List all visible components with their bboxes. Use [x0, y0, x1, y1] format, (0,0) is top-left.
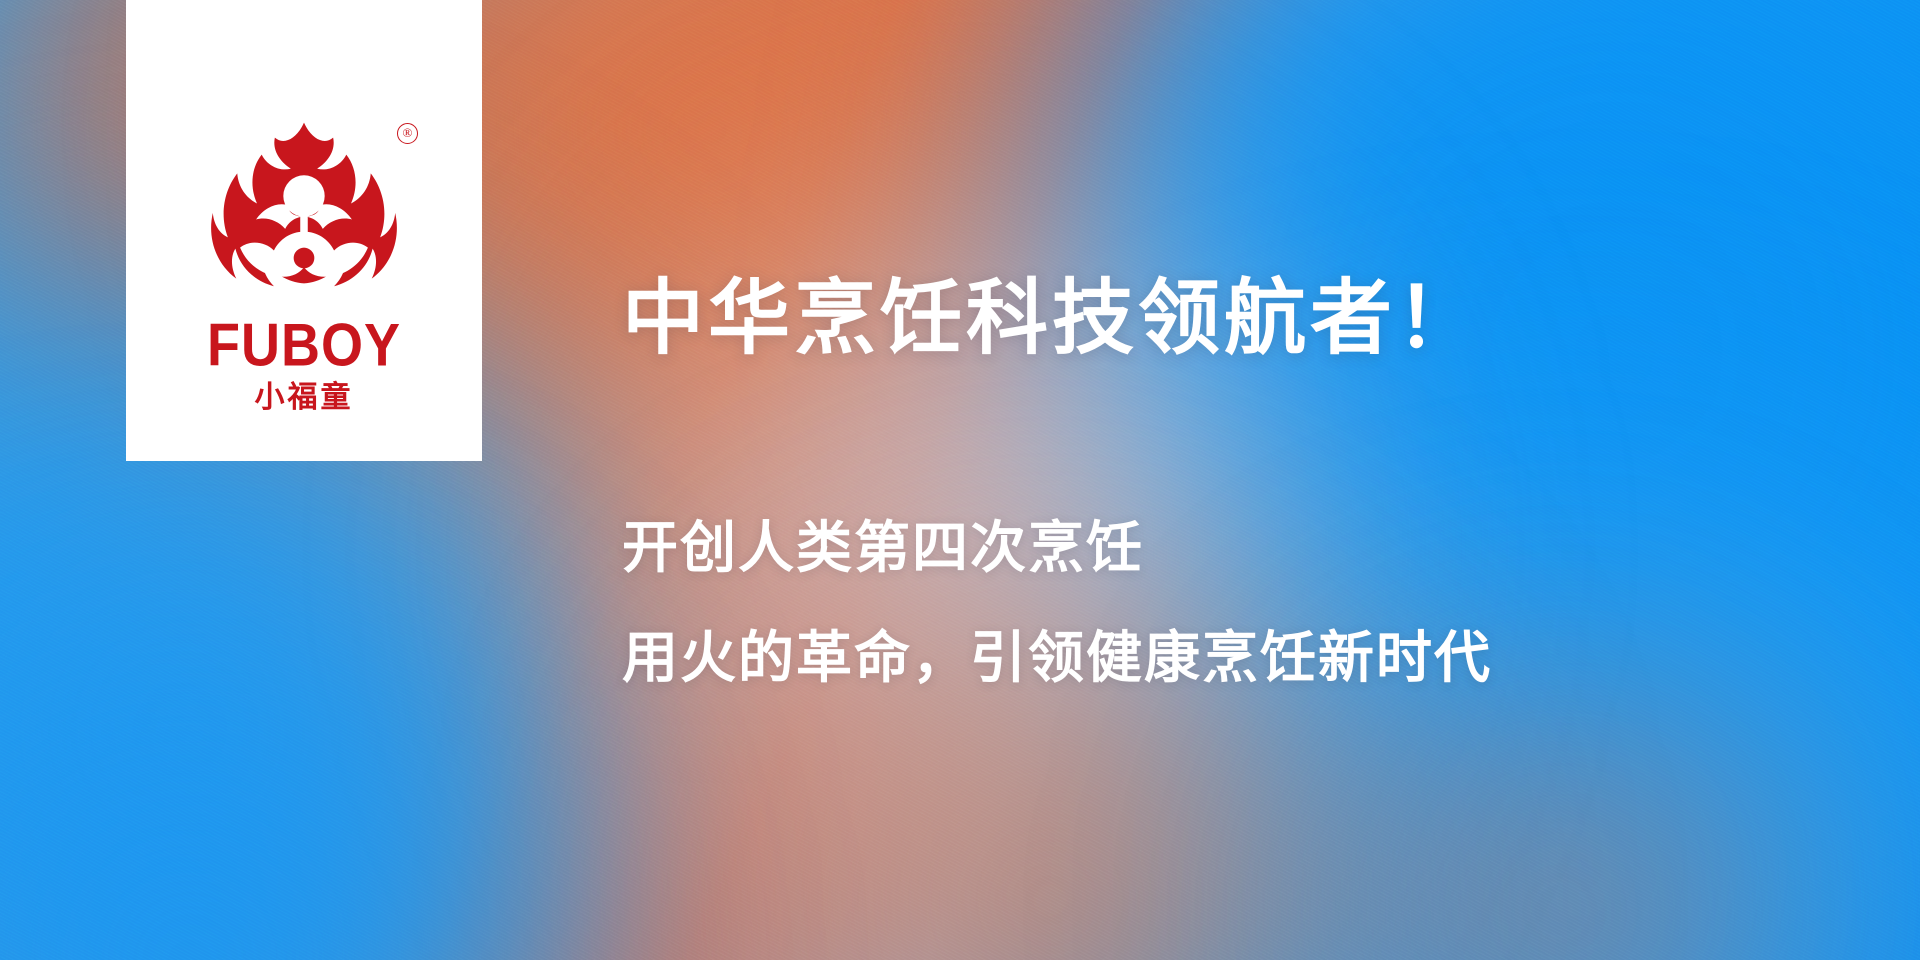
- registered-trademark-icon: ®: [397, 123, 418, 144]
- banner-stage: ® FUBOY 小福童 中华烹饪科技领航者！ 开创人类第四次烹饪 用火的革命，引…: [0, 0, 1920, 960]
- brand-wordmark: FUBOY: [207, 315, 401, 375]
- headline: 中华烹饪科技领航者！: [622, 274, 1482, 364]
- brand-wordmark-chinese: 小福童: [255, 383, 354, 413]
- subtitle-line-1: 开创人类第四次烹饪: [622, 518, 1144, 580]
- copy-block: 中华烹饪科技领航者！ 开创人类第四次烹饪 用火的革命，引领健康烹饪新时代: [622, 0, 1802, 960]
- logo-card: ® FUBOY 小福童: [126, 0, 482, 461]
- subtitle-line-2: 用火的革命，引领健康烹饪新时代: [622, 628, 1492, 690]
- flame-emblem-icon: ®: [210, 117, 398, 305]
